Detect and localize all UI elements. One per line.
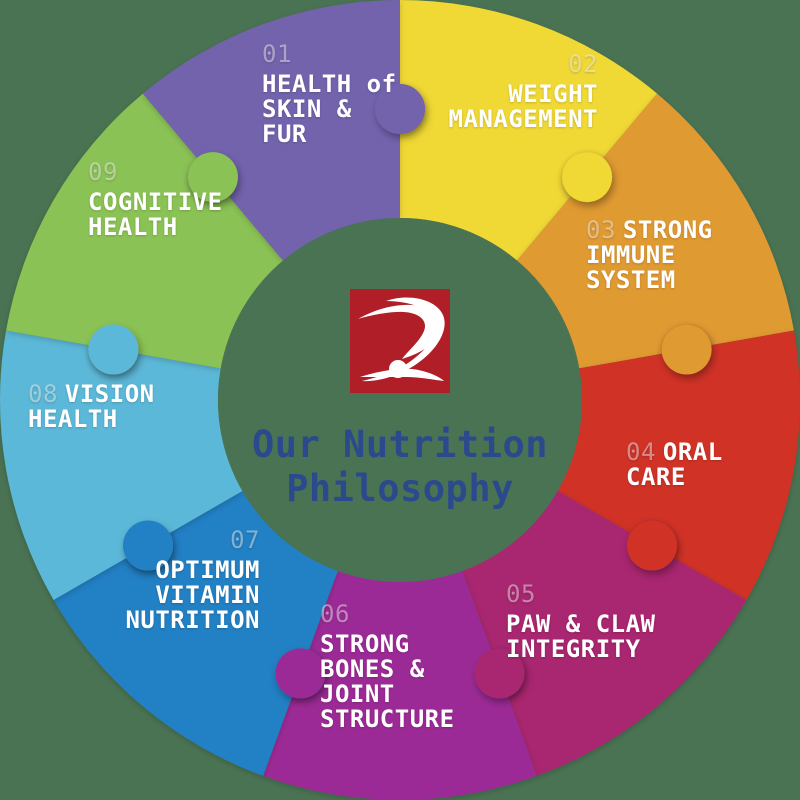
puzzle-tab-06 bbox=[123, 521, 173, 571]
center-title: Our Nutrition Philosophy bbox=[252, 423, 548, 510]
center-title-line2: Philosophy bbox=[252, 467, 548, 511]
puzzle-tab-08 bbox=[188, 152, 238, 202]
center-hub: Our Nutrition Philosophy bbox=[220, 220, 580, 580]
puzzle-tab-04 bbox=[475, 648, 525, 698]
center-title-line1: Our Nutrition bbox=[252, 423, 548, 466]
puzzle-tab-09 bbox=[375, 84, 425, 134]
infographic-canvas: 01HEALTH ofSKIN &FUR02WEIGHTMANAGEMENT03… bbox=[0, 0, 800, 800]
puzzle-tab-02 bbox=[662, 324, 712, 374]
puzzle-tab-07 bbox=[88, 324, 138, 374]
puzzle-tab-05 bbox=[275, 648, 325, 698]
orbit-swoosh-logo bbox=[350, 289, 450, 393]
puzzle-tab-03 bbox=[627, 521, 677, 571]
puzzle-tab-01 bbox=[562, 152, 612, 202]
